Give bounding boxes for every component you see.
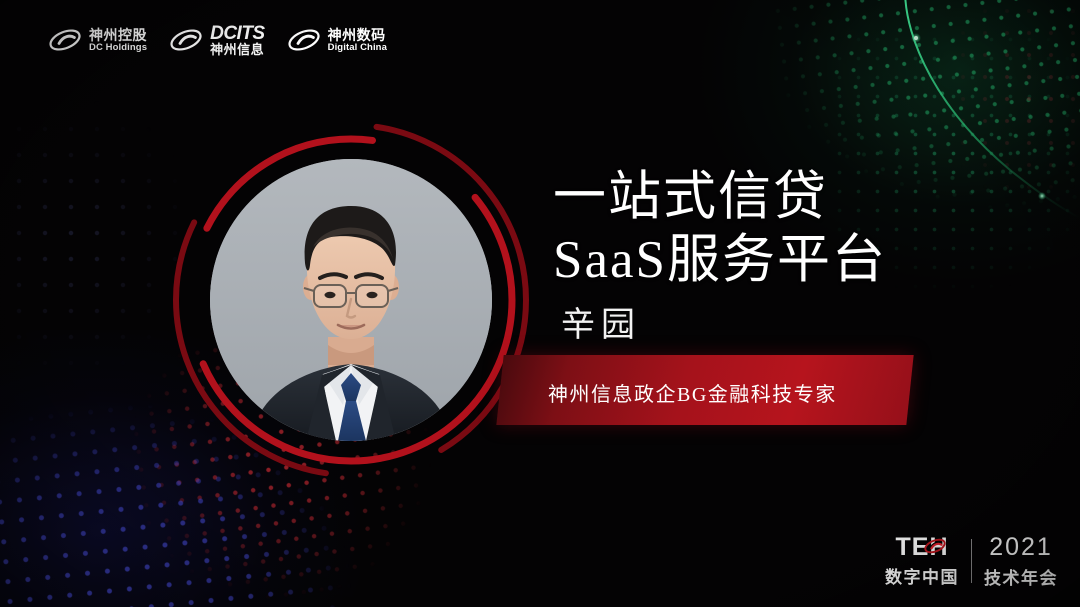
- dcits-swoosh-icon: [169, 27, 203, 53]
- event-logo: TEH 数字中国 2021 技术年会: [885, 533, 1058, 589]
- slide-canvas: 神州控股 DC Holdings DCITS 神州信息 神州数码: [0, 0, 1080, 607]
- headshot-illustration: [210, 159, 492, 441]
- speaker-portrait: [186, 135, 516, 465]
- event-logo-left: TEH 数字中国: [885, 535, 959, 588]
- page-title: 一站式信贷 SaaS服务平台: [553, 166, 973, 292]
- logo-cn-text: 神州数码: [328, 28, 387, 42]
- vignette-overlay: [0, 0, 1080, 607]
- avatar: [210, 159, 492, 441]
- tech-wordmark: TEH: [896, 535, 949, 561]
- green-arc-line: [0, 0, 1080, 607]
- corporate-logo-bar: 神州控股 DC Holdings DCITS 神州信息 神州数码: [48, 24, 409, 57]
- logo-en-text: DC Holdings: [89, 43, 147, 53]
- event-subtitle: 技术年会: [984, 564, 1058, 589]
- logo-en-text: Digital China: [328, 43, 387, 53]
- logo-dcits: DCITS 神州信息: [169, 24, 287, 57]
- event-logo-right: 2021 技术年会: [984, 533, 1058, 589]
- dcits-swoosh-icon: [287, 27, 321, 53]
- speaker-name: 辛园: [561, 297, 641, 346]
- logo-digital-china: 神州数码 Digital China: [287, 27, 409, 53]
- tech-cn-text: 数字中国: [885, 563, 959, 588]
- speaker-role: 神州信息政企BG金融科技专家: [548, 378, 837, 407]
- logo-dc-holdings: 神州控股 DC Holdings: [48, 27, 169, 53]
- event-year: 2021: [989, 533, 1053, 562]
- dcits-swoosh-icon: [48, 27, 82, 53]
- event-logo-divider: [971, 539, 972, 583]
- tech-swoosh-icon: [923, 536, 947, 556]
- logo-cn-text: 神州信息: [210, 43, 265, 56]
- logo-cn-text: 神州控股: [89, 28, 147, 42]
- logo-en-text: DCITS: [210, 24, 265, 43]
